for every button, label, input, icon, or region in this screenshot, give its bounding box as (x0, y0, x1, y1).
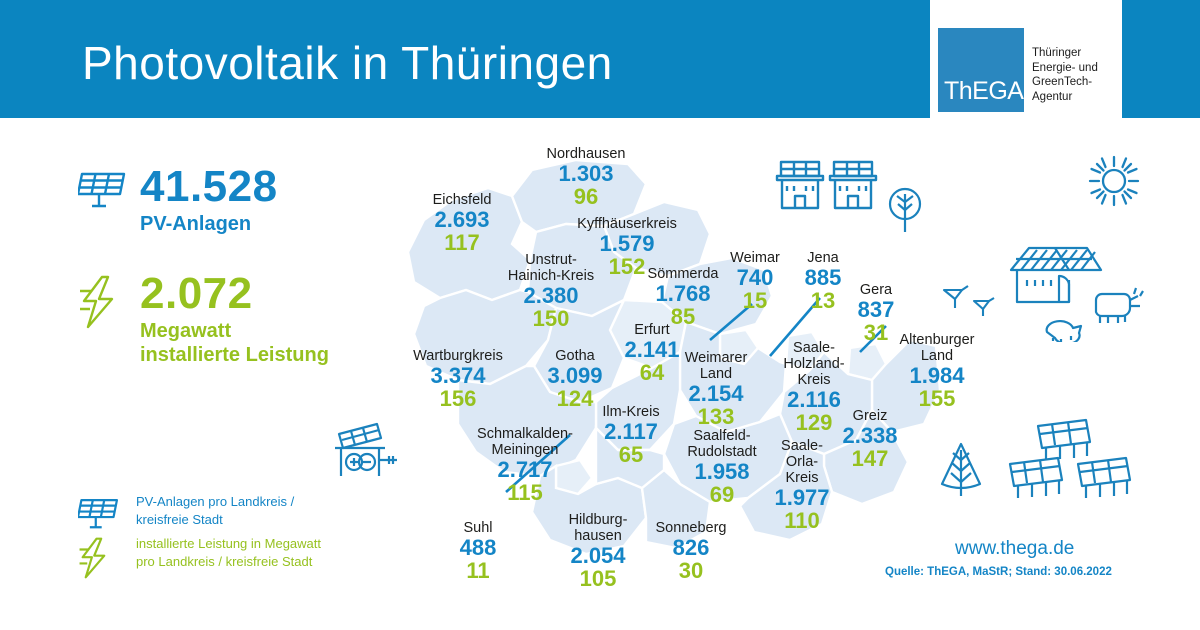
district-name-line2: Holzland- (758, 356, 870, 372)
website-url[interactable]: www.thega.de (955, 538, 1074, 560)
district-installations: 3.099 (520, 364, 630, 387)
map-label-schmalkalden-meiningen: Schmalkalden- Meiningen 2.717 115 (445, 426, 605, 504)
district-name: Gera (838, 282, 914, 298)
solar-array-icon (1070, 456, 1134, 505)
source-note: Quelle: ThEGA, MaStR; Stand: 30.06.2022 (885, 566, 1112, 578)
district-name: Sonneberg (631, 520, 751, 536)
building-solar-icon (775, 158, 825, 215)
district-name: Erfurt (602, 322, 702, 338)
header-bar: Photovoltaik in Thüringen ThEGA Thüringe… (0, 0, 1200, 118)
district-name: Gotha (520, 348, 630, 364)
district-name: Saale- (752, 438, 852, 454)
district-name: Weimar (710, 250, 800, 266)
logo: ThEGA ThüringerEnergie- undGreenTech-Age… (930, 0, 1122, 118)
district-name: Altenburger (872, 332, 1002, 348)
district-installations: 740 (710, 266, 800, 289)
district-name-line2: Orla- (752, 454, 852, 470)
bird-icon (942, 284, 970, 315)
stat-capacity-label: Megawattinstallierte Leistung (140, 319, 329, 367)
district-installations: 488 (438, 536, 518, 559)
district-capacity: 30 (631, 559, 751, 582)
legend-item-installations-text: PV-Anlagen pro Landkreis /kreisfreie Sta… (136, 493, 294, 529)
infographic-root: Photovoltaik in Thüringen ThEGA Thüringe… (0, 0, 1200, 630)
logo-mark-text: ThEGA (944, 77, 1023, 106)
map-label-nordhausen: Nordhausen 1.303 96 (526, 146, 646, 208)
stat-capacity-value: 2.072 (140, 269, 253, 319)
solar-array-icon (1002, 456, 1066, 505)
district-name: Suhl (438, 520, 518, 536)
district-installations: 1.984 (872, 364, 1002, 387)
district-capacity: 115 (445, 481, 605, 504)
district-installations: 2.380 (476, 284, 626, 307)
district-installations: 1.303 (526, 162, 646, 185)
district-capacity: 117 (407, 231, 517, 254)
district-installations: 2.717 (445, 458, 605, 481)
map-label-wartburgkreis: Wartburgkreis 3.374 156 (388, 348, 528, 410)
district-name: Unstrut- (476, 252, 626, 268)
district-installations: 3.374 (388, 364, 528, 387)
district-name: Greiz (820, 408, 920, 424)
district-capacity: 156 (388, 387, 528, 410)
lightning-bolt-icon (78, 537, 112, 584)
map-label-eichsfeld: Eichsfeld 2.693 117 (407, 192, 517, 254)
map-label-unstrut-hainich: Unstrut- Hainich-Kreis 2.380 150 (476, 252, 626, 330)
lightning-bolt-icon (78, 275, 122, 334)
district-capacity: 15 (710, 289, 800, 312)
district-capacity: 11 (438, 559, 518, 582)
district-name: Jena (788, 250, 858, 266)
map-label-gotha: Gotha 3.099 124 (520, 348, 630, 410)
conifer-tree-icon (938, 440, 984, 503)
map-label-altenburger-land: Altenburger Land 1.984 155 (872, 332, 1002, 410)
district-installations: 837 (838, 298, 914, 321)
map-label-suhl: Suhl 488 11 (438, 520, 518, 582)
logo-organisation-name: ThüringerEnergie- undGreenTech-Agentur (1032, 46, 1098, 104)
sun-icon (1088, 155, 1140, 212)
deciduous-tree-icon (885, 186, 925, 239)
bird-icon (972, 296, 996, 323)
cow-icon (1092, 286, 1144, 329)
district-installations: 826 (631, 536, 751, 559)
logo-mark: ThEGA (938, 28, 1024, 112)
solar-panel-icon (78, 168, 130, 213)
district-name: Eichsfeld (407, 192, 517, 208)
district-name-line2: Meiningen (445, 442, 605, 458)
stat-pv-value: 41.528 (140, 162, 278, 212)
barn-solar-icon (1007, 240, 1105, 315)
solar-panel-icon (78, 495, 122, 534)
district-name: Wartburgkreis (388, 348, 528, 364)
legend-item-capacity-text: installierte Leistung in Megawattpro Lan… (136, 535, 321, 571)
district-name: Nordhausen (526, 146, 646, 162)
district-capacity: 155 (872, 387, 1002, 410)
district-name: Schmalkalden- (445, 426, 605, 442)
district-name-line2: Land (872, 348, 1002, 364)
district-name: Ilm-Kreis (576, 404, 686, 420)
district-name-line2: Hainich-Kreis (476, 268, 626, 284)
map-label-sonneberg: Sonneberg 826 30 (631, 520, 751, 582)
district-installations: 2.693 (407, 208, 517, 231)
district-capacity: 96 (526, 185, 646, 208)
map-label-saale-orla: Saale- Orla- Kreis 1.977 110 (752, 438, 852, 532)
district-capacity: 110 (752, 509, 852, 532)
solar-battery-storage-icon (329, 418, 401, 485)
page-title: Photovoltaik in Thüringen (82, 36, 613, 90)
map-label-weimar: Weimar 740 15 (710, 250, 800, 312)
district-name: Kyffhäuserkreis (548, 216, 706, 232)
district-name-line3: Kreis (752, 470, 852, 486)
pig-icon (1043, 320, 1085, 347)
district-installations: 1.977 (752, 486, 852, 509)
district-name-line3: Kreis (758, 372, 870, 388)
district-name: Saale- (758, 340, 870, 356)
stat-pv-label: PV-Anlagen (140, 212, 251, 236)
building-solar-icon (828, 158, 878, 215)
